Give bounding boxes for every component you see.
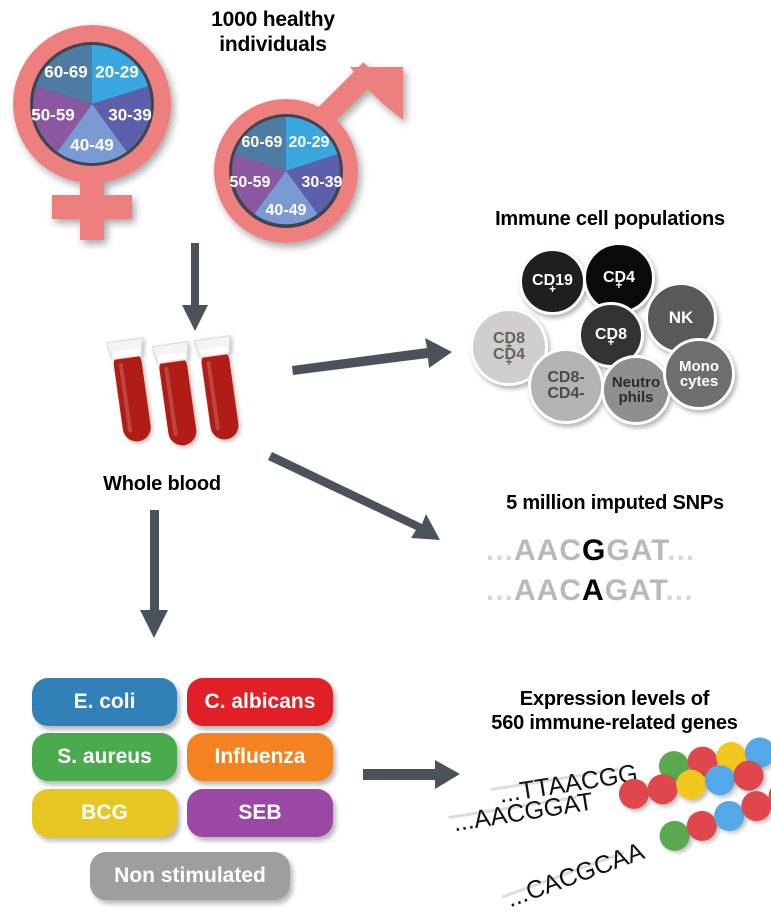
- figure-canvas: 1000 healthy individuals: [0, 0, 771, 922]
- immune-cell-cd19[interactable]: CD19+: [519, 248, 586, 315]
- stimulus-label: C. albicans: [205, 690, 316, 714]
- strand-sequence: ...AACGGAT: [451, 788, 595, 839]
- cell-label-line2: CD4+: [493, 347, 525, 363]
- immune-cell-cluster: CD8+ CD4+ CD19+ CD4+ NK CD8+ CD8- CD4- N…: [470, 240, 755, 425]
- stimulus-label: SEB: [238, 801, 281, 825]
- cohort-title-line2: individuals: [168, 33, 378, 58]
- snp-sequence-bottom: ...AACAGAT...: [486, 574, 693, 608]
- gene-bead: [645, 772, 679, 806]
- cell-label: CD19+: [532, 273, 573, 289]
- stimulus-s-aureus[interactable]: S. aureus: [32, 733, 177, 781]
- gene-bead: [731, 759, 765, 793]
- pie-label-male-40-49: 40-49: [266, 202, 307, 219]
- pie-label-20-29: 20-29: [95, 62, 138, 81]
- expression-title-line1: Expression levels of: [462, 688, 767, 712]
- stimulus-e-coli[interactable]: E. coli: [32, 678, 177, 726]
- stimulus-label: S. aureus: [57, 745, 152, 769]
- snp-sequence-top: ...AACGGAT...: [486, 534, 695, 568]
- immune-cell-neutrophils[interactable]: Neutro phils: [601, 355, 671, 425]
- arrow-blood-to-snps: [272, 452, 452, 542]
- male-gender-symbol: 20-29 30-39 40-49 50-59 60-69: [198, 60, 413, 250]
- cell-label-line2: CD4-: [547, 386, 584, 402]
- gene-bead: [674, 768, 708, 802]
- cell-label-line2: cytes: [680, 374, 718, 389]
- pie-label-male-50-59: 50-59: [230, 174, 271, 191]
- strand-sequence: ...CACGCAA: [503, 837, 649, 914]
- whole-blood-label: Whole blood: [72, 473, 252, 497]
- cell-label-line1: Neutro: [612, 375, 660, 390]
- cell-label: CD8+: [595, 327, 627, 343]
- cell-label: NK: [669, 309, 694, 326]
- snp-sequences: ...AACGGAT... ...AACAGAT...: [486, 534, 746, 614]
- pie-label-60-69: 60-69: [44, 62, 87, 81]
- pie-label-male-60-69: 60-69: [242, 134, 283, 151]
- stimulus-label: Influenza: [214, 745, 305, 769]
- stimulus-label: BCG: [81, 801, 128, 825]
- snp-prefix: ...: [486, 574, 514, 607]
- snp-before: AAC: [514, 534, 582, 567]
- gene-strands: ...TTAACGG ...AACGGAT ...CACGCAA: [440, 740, 771, 922]
- snp-after: GAT: [606, 534, 667, 567]
- pie-label-30-39: 30-39: [108, 105, 151, 124]
- snp-after: GAT: [605, 574, 666, 607]
- gene-bead: [617, 777, 651, 811]
- cohort-title-line1: 1000 healthy: [168, 8, 378, 33]
- immune-cell-cd8n-cd4n[interactable]: CD8- CD4-: [528, 348, 604, 424]
- immune-cell-monocytes[interactable]: Mono cytes: [663, 338, 735, 410]
- cell-label-line1: CD8+: [493, 331, 525, 347]
- stimulus-c-albicans[interactable]: C. albicans: [187, 678, 333, 726]
- snp-before: AAC: [514, 574, 582, 607]
- female-gender-symbol: 20-29 30-39 40-49 50-59 60-69: [8, 12, 193, 242]
- cohort-title: 1000 healthy individuals: [168, 8, 378, 58]
- cell-label: CD4+: [603, 270, 635, 286]
- whole-blood-tubes: [100, 332, 250, 462]
- expression-title-line2: 560 immune-related genes: [462, 712, 767, 736]
- cell-label-line2: phils: [618, 390, 653, 405]
- stimulus-label: E. coli: [74, 690, 136, 714]
- cell-label-line1: Mono: [679, 359, 719, 374]
- snp-variant: G: [582, 534, 606, 567]
- arrow-cohort-to-blood: [178, 243, 208, 335]
- stimulus-bcg[interactable]: BCG: [32, 789, 177, 837]
- immune-populations-title: Immune cell populations: [455, 208, 765, 232]
- snp-suffix: ...: [665, 574, 693, 607]
- snp-prefix: ...: [486, 534, 514, 567]
- snps-title: 5 million imputed SNPs: [470, 492, 760, 516]
- arrow-blood-to-stimuli: [140, 510, 172, 640]
- pie-label-40-49: 40-49: [70, 135, 113, 154]
- pie-label-male-30-39: 30-39: [302, 174, 343, 191]
- cell-label-line1: CD8-: [547, 370, 584, 386]
- snp-variant: A: [582, 574, 605, 607]
- snp-suffix: ...: [667, 534, 695, 567]
- gene-bead: [703, 763, 737, 797]
- stimulus-influenza[interactable]: Influenza: [187, 733, 333, 781]
- arrow-blood-to-immune: [292, 330, 457, 378]
- pie-label-50-59: 50-59: [31, 105, 74, 124]
- pie-label-male-20-29: 20-29: [289, 134, 330, 151]
- stimulus-non-stimulated[interactable]: Non stimulated: [90, 852, 290, 900]
- expression-title: Expression levels of 560 immune-related …: [462, 688, 767, 735]
- stimulus-seb[interactable]: SEB: [187, 789, 333, 837]
- stimulus-label: Non stimulated: [114, 864, 266, 888]
